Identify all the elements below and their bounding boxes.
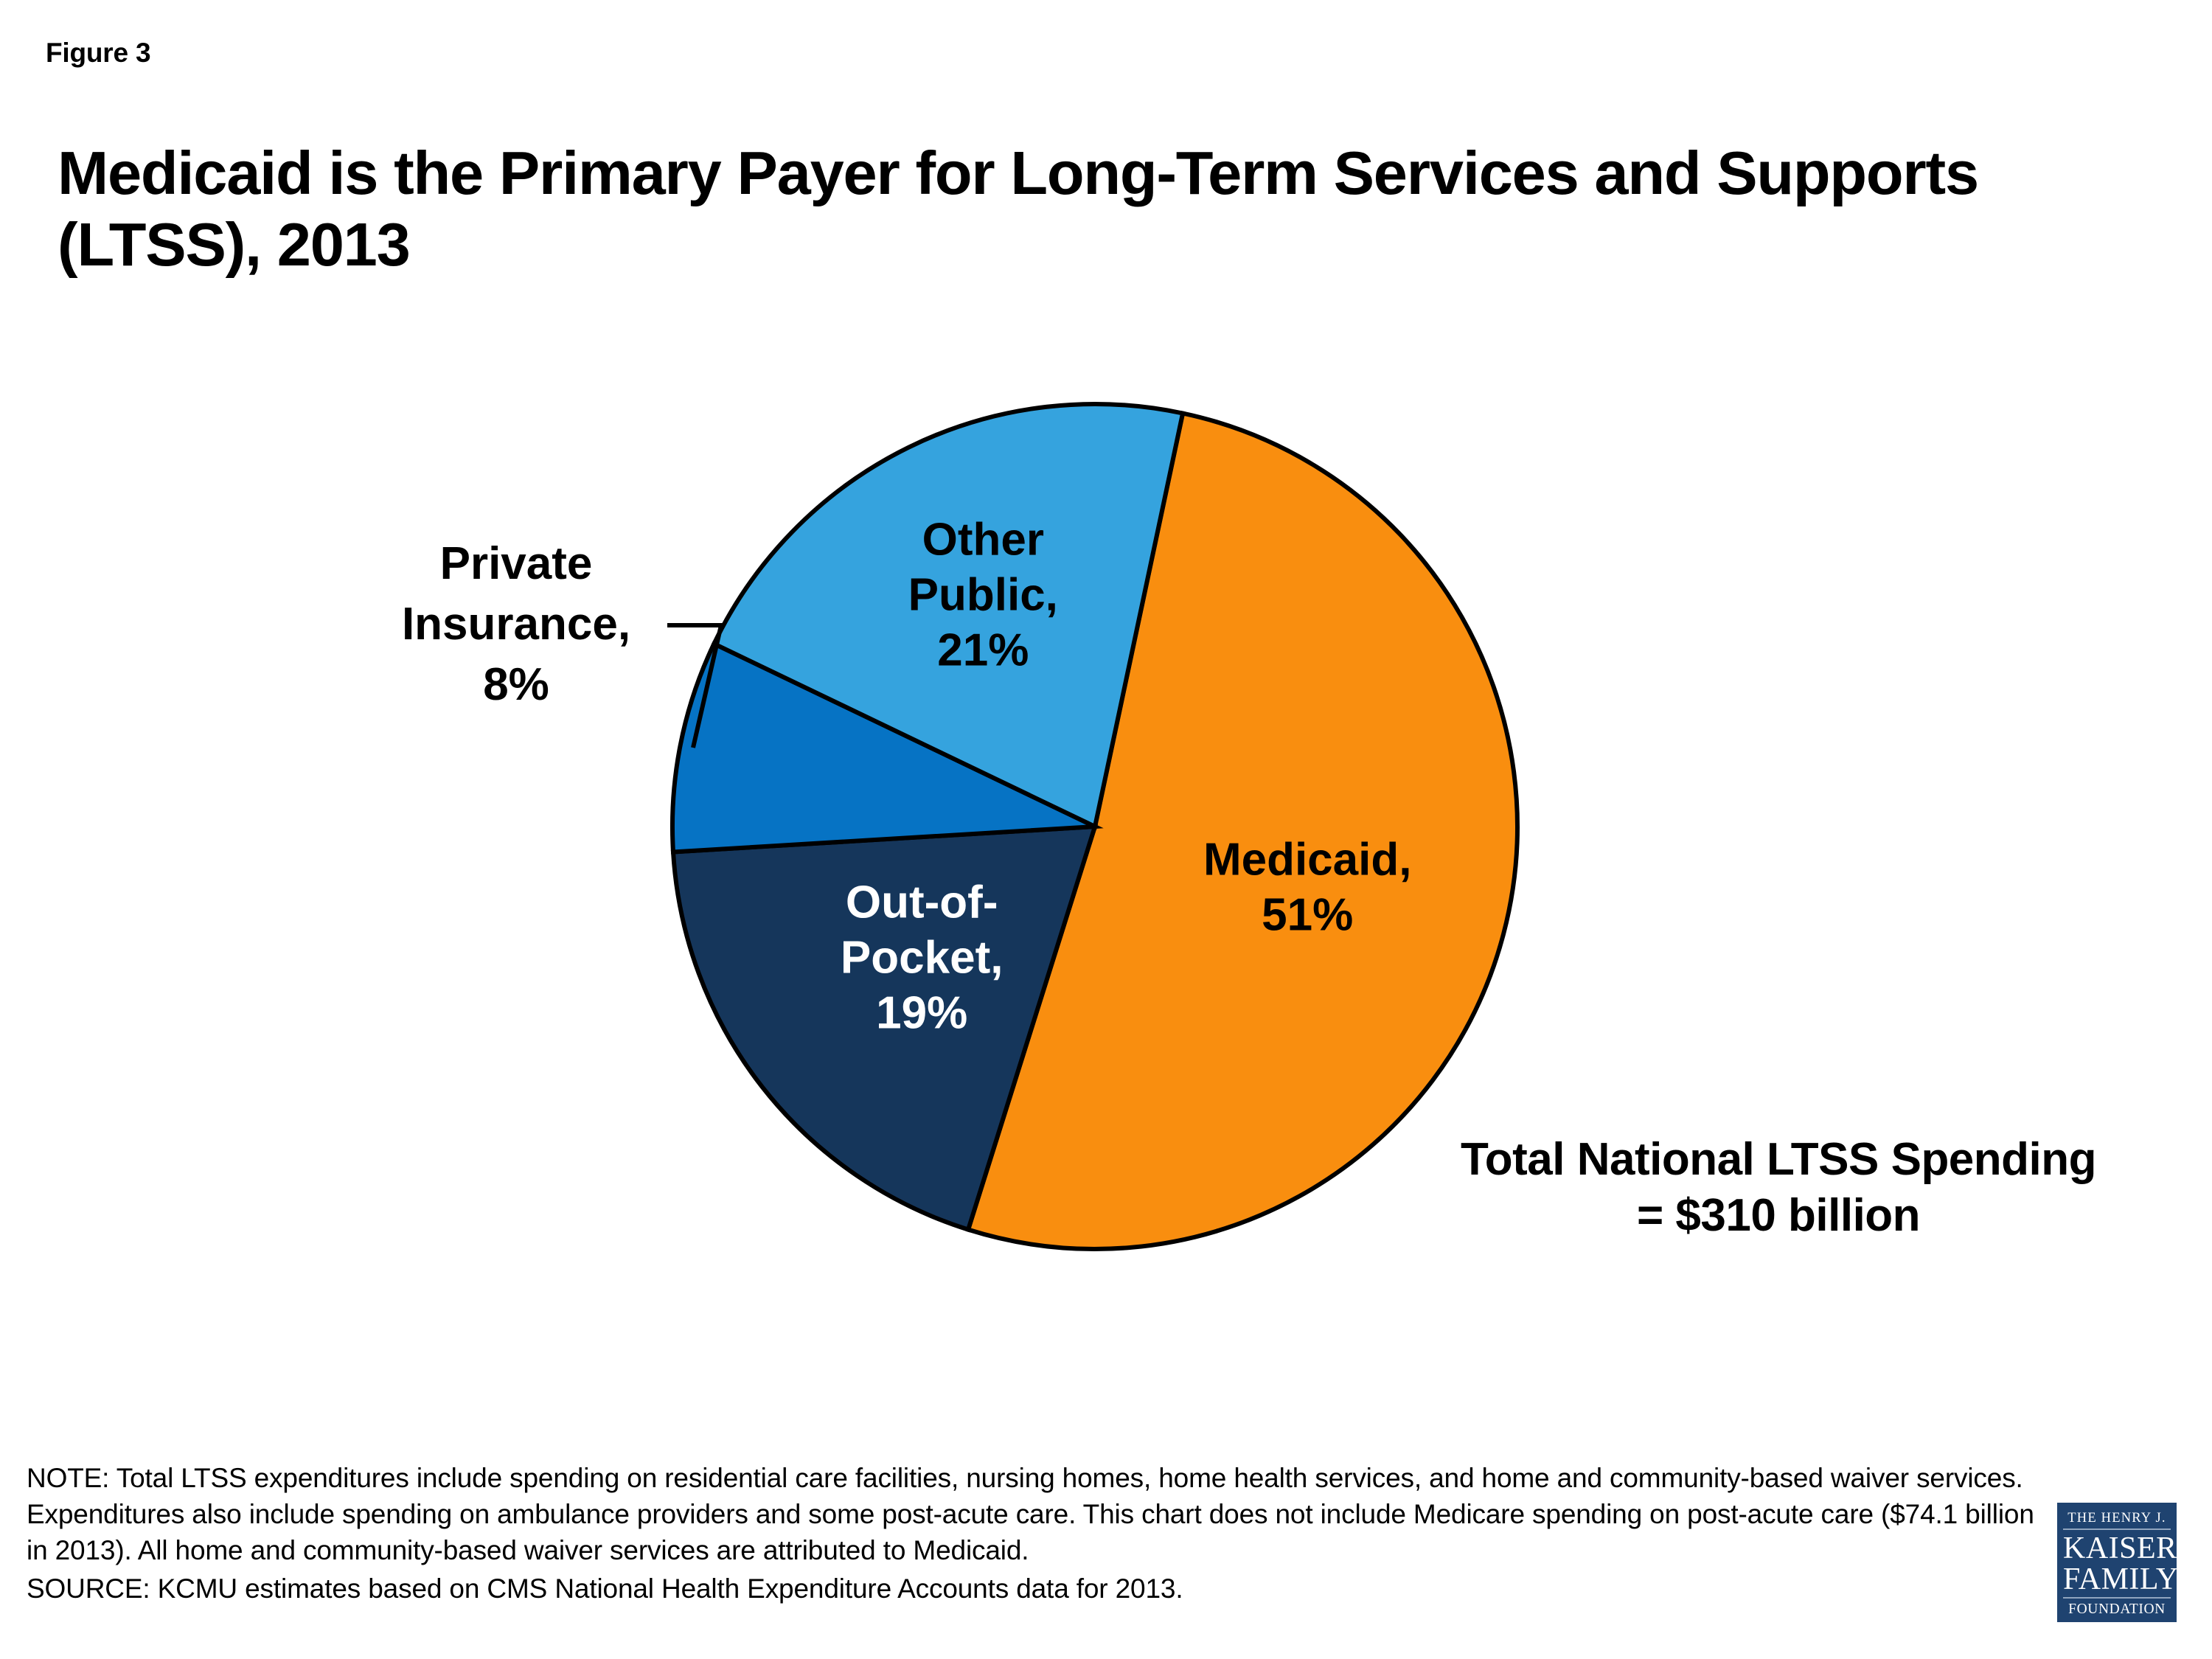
pie-label-out-of-pocket-line3: 19% — [876, 987, 967, 1038]
pie-label-private-insurance-line3: 8% — [483, 659, 549, 710]
pie-chart: Other Public, 21% Medicaid, 51% Out-of- … — [0, 324, 2212, 1394]
pie-label-private-insurance-line2: Insurance, — [402, 599, 630, 650]
pie-label-medicaid-line2: 51% — [1262, 890, 1353, 941]
total-spending-line2: = $310 billion — [1410, 1188, 2147, 1244]
logo-line-family: FAMILY — [2063, 1564, 2171, 1599]
pie-label-out-of-pocket-line2: Pocket, — [841, 932, 1004, 983]
pie-label-private-insurance: Private Insurance, 8% — [402, 538, 630, 710]
pie-label-medicaid-line1: Medicaid, — [1203, 835, 1412, 886]
total-spending-line1: Total National LTSS Spending — [1410, 1132, 2147, 1188]
note-text: NOTE: Total LTSS expenditures include sp… — [27, 1460, 2047, 1569]
pie-label-other-public-line1: Other — [922, 515, 1044, 566]
page-title: Medicaid is the Primary Payer for Long-T… — [58, 137, 2159, 280]
figure-label: Figure 3 — [46, 38, 150, 69]
pie-label-other-public-line3: 21% — [937, 625, 1029, 676]
pie-label-other-public-line2: Public, — [908, 570, 1058, 621]
logo-line-kaiser: KAISER — [2063, 1533, 2171, 1564]
kaiser-family-foundation-logo: THE HENRY J. KAISER FAMILY FOUNDATION — [2057, 1503, 2177, 1622]
logo-line-foundation: FOUNDATION — [2063, 1602, 2171, 1617]
total-spending-annotation: Total National LTSS Spending = $310 bill… — [1410, 1132, 2147, 1243]
footer: NOTE: Total LTSS expenditures include sp… — [27, 1460, 2047, 1607]
pie-label-private-insurance-line1: Private — [440, 538, 593, 589]
logo-line-the-henry-j: THE HENRY J. — [2063, 1512, 2171, 1530]
pie-label-out-of-pocket-line1: Out-of- — [846, 877, 998, 928]
source-text: SOURCE: KCMU estimates based on CMS Nati… — [27, 1571, 2047, 1607]
